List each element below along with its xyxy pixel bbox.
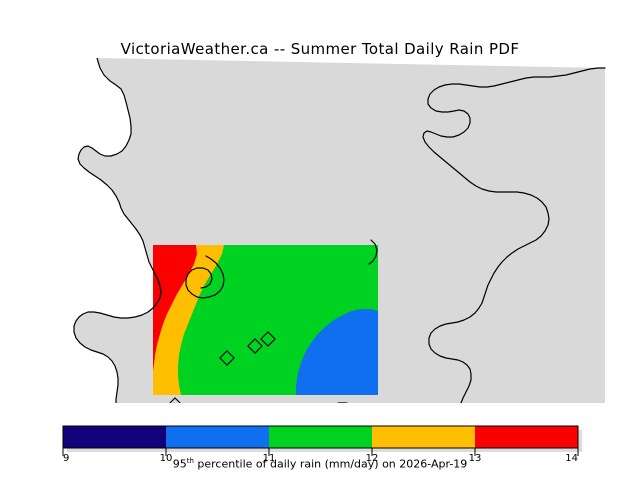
map-canvas xyxy=(0,58,640,403)
colorbar-caption-rest: percentile of daily rain (mm/day) on 202… xyxy=(194,458,467,471)
colorbar-band-12-13[interactable] xyxy=(372,426,475,448)
colorbar-caption-superscript: th xyxy=(187,457,194,465)
contour-field-layer xyxy=(153,245,378,403)
colorbar-band-13-14[interactable] xyxy=(475,426,578,448)
weather-map-page: VictoriaWeather.ca -- Summer Total Daily… xyxy=(0,0,640,480)
colorbar-bands xyxy=(63,426,578,448)
colorbar-band-10-11[interactable] xyxy=(166,426,269,448)
colorbar-svg: 9 10 11 12 13 14 xyxy=(0,418,640,480)
colorbar-caption-prefix: 95 xyxy=(173,458,187,471)
colorbar-band-9-10[interactable] xyxy=(63,426,166,448)
colorbar-caption: 95th percentile of daily rain (mm/day) o… xyxy=(0,457,640,471)
colorbar: 9 10 11 12 13 14 xyxy=(0,418,640,480)
page-title: VictoriaWeather.ca -- Summer Total Daily… xyxy=(0,40,640,58)
colorbar-band-11-12[interactable] xyxy=(269,426,372,448)
map-svg xyxy=(0,58,640,403)
